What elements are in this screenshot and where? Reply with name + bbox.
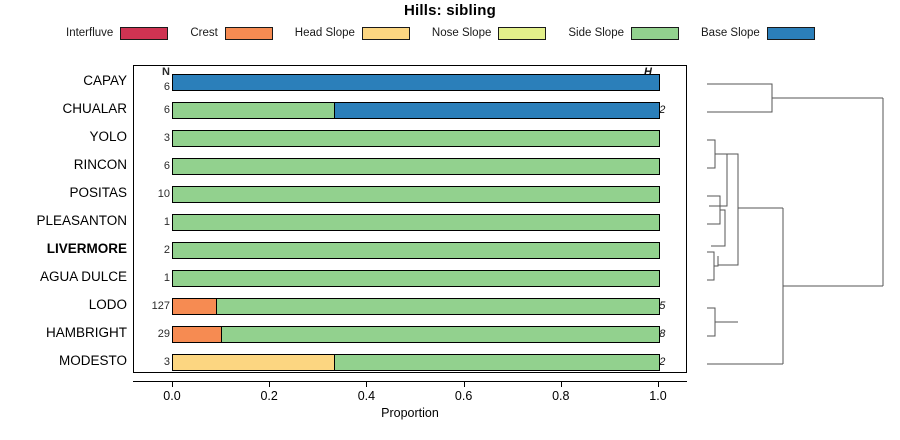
legend-label: Nose Slope (432, 27, 491, 39)
legend-item-side-slope: Side Slope (568, 27, 679, 40)
legend-item-nose-slope: Nose Slope (432, 27, 546, 40)
y-axis-label-yolo: YOLO (0, 123, 127, 151)
dendro-node-c-plus (711, 210, 725, 246)
row-n-value: 1 (134, 264, 170, 292)
x-axis-line (133, 381, 687, 382)
bar-segment-side-slope (173, 103, 335, 118)
dendro-node-livermore-agua (707, 252, 714, 280)
legend-swatch-icon (120, 27, 168, 40)
legend-label: Side Slope (568, 27, 624, 39)
row-n-value: 2 (134, 236, 170, 264)
y-axis-label-chualar: CHUALAR (0, 95, 127, 123)
legend: InterfluveCrestHead SlopeNose SlopeSide … (66, 24, 837, 42)
legend-item-head-slope: Head Slope (295, 27, 410, 40)
stacked-bar-plot-panel: NH6060.9230601001020101270.45290.4830.92 (133, 65, 687, 373)
row-n-value: 127 (134, 292, 170, 320)
dendro-node-pleasanton-livermore (707, 196, 720, 224)
bar-segment-base-slope (335, 103, 659, 118)
stacked-bar (172, 158, 660, 175)
y-axis-label-hambright: HAMBRIGHT (0, 319, 127, 347)
legend-label: Crest (190, 27, 217, 39)
stacked-bar (172, 242, 660, 259)
stacked-bar (172, 74, 660, 91)
stacked-bar (172, 214, 660, 231)
y-axis-label-lodo: LODO (0, 291, 127, 319)
y-axis-label-pleasanton: PLEASANTON (0, 207, 127, 235)
bar-segment-base-slope (173, 75, 659, 90)
legend-swatch-icon (498, 27, 546, 40)
stacked-bar (172, 102, 660, 119)
x-axis-tick-label: 0.2 (239, 389, 299, 403)
x-axis-tick-label: 0.4 (336, 389, 396, 403)
dendro-node-capay-chualar (707, 84, 772, 112)
y-axis-label-agua-dulce: AGUA DULCE (0, 263, 127, 291)
bar-segment-side-slope (173, 187, 659, 202)
x-axis-tick-label: 0.8 (531, 389, 591, 403)
dendrogram-svg (687, 60, 900, 380)
table-row: 30 (134, 124, 686, 152)
legend-swatch-icon (225, 27, 273, 40)
stacked-bar (172, 186, 660, 203)
stacked-bar (172, 354, 660, 371)
table-row: NH60 (134, 68, 686, 96)
y-axis-label-modesto: MODESTO (0, 347, 127, 375)
dendro-node-yolo-rincon (707, 140, 715, 168)
x-axis-tick (658, 381, 659, 387)
x-axis-title: Proportion (133, 406, 687, 420)
row-n-value: 1 (134, 208, 170, 236)
row-n-value: 6 (134, 68, 170, 96)
stacked-bar (172, 326, 660, 343)
x-axis-tick-label: 0.6 (434, 389, 494, 403)
legend-label: Interfluve (66, 27, 113, 39)
table-row: 20 (134, 236, 686, 264)
legend-swatch-icon (767, 27, 815, 40)
row-n-value: 3 (134, 348, 170, 376)
x-axis-tick-label: 1.0 (628, 389, 688, 403)
x-axis-tick-label: 0.0 (142, 389, 202, 403)
bar-segment-side-slope (173, 243, 659, 258)
row-n-value: 10 (134, 180, 170, 208)
row-n-value: 29 (134, 320, 170, 348)
bar-segment-crest (173, 299, 217, 314)
table-row: 10 (134, 208, 686, 236)
legend-item-crest: Crest (190, 27, 272, 40)
y-axis-label-capay: CAPAY (0, 67, 127, 95)
stacked-bar (172, 298, 660, 315)
legend-item-interfluve: Interfluve (66, 27, 168, 40)
x-axis-tick (366, 381, 367, 387)
bar-segment-head-slope (173, 355, 335, 370)
page-title: Hills: sibling (0, 2, 900, 19)
x-axis-tick (464, 381, 465, 387)
table-row: 1270.45 (134, 292, 686, 320)
table-row: 290.48 (134, 320, 686, 348)
legend-label: Base Slope (701, 27, 760, 39)
bar-segment-side-slope (173, 159, 659, 174)
bar-segment-side-slope (217, 299, 659, 314)
bar-segment-crest (173, 327, 222, 342)
bar-segment-side-slope (173, 131, 659, 146)
bar-segment-side-slope (335, 355, 659, 370)
y-axis-label-livermore: LIVERMORE (0, 235, 127, 263)
stacked-bar (172, 270, 660, 287)
table-row: 30.92 (134, 348, 686, 376)
dendro-node-lodo-hambright (707, 308, 715, 336)
y-axis-label-rincon: RINCON (0, 151, 127, 179)
x-axis-tick (172, 381, 173, 387)
bar-segment-side-slope (222, 327, 659, 342)
x-axis-tick (561, 381, 562, 387)
row-n-value: 6 (134, 152, 170, 180)
row-n-value: 6 (134, 96, 170, 124)
table-row: 100 (134, 180, 686, 208)
table-row: 10 (134, 264, 686, 292)
table-row: 60 (134, 152, 686, 180)
x-axis-tick (269, 381, 270, 387)
dendrogram (687, 60, 900, 380)
stacked-bar (172, 130, 660, 147)
table-row: 60.92 (134, 96, 686, 124)
y-axis-label-positas: POSITAS (0, 179, 127, 207)
bar-segment-side-slope (173, 215, 659, 230)
dendro-node-b-plus (709, 154, 727, 206)
legend-swatch-icon (362, 27, 410, 40)
legend-label: Head Slope (295, 27, 355, 39)
legend-swatch-icon (631, 27, 679, 40)
legend-item-base-slope: Base Slope (701, 27, 815, 40)
bar-segment-side-slope (173, 271, 659, 286)
row-n-value: 3 (134, 124, 170, 152)
